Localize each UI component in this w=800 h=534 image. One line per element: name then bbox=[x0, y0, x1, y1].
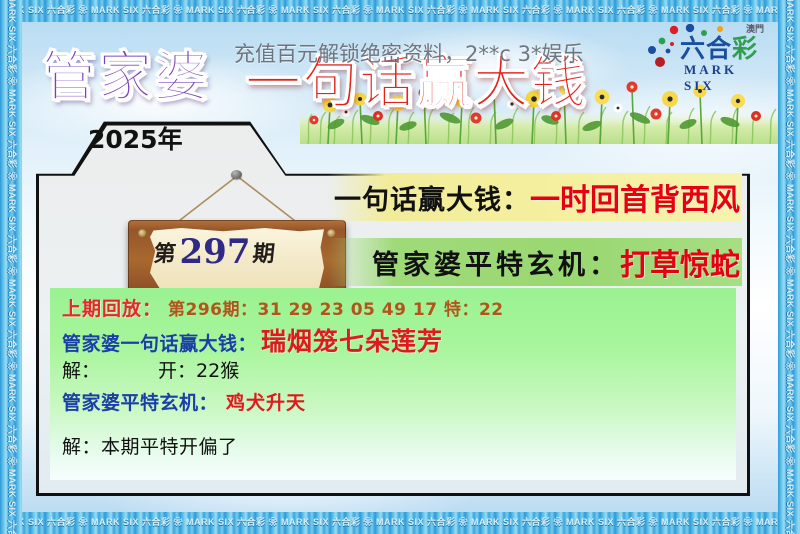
logo-char-3: 彩 bbox=[732, 34, 758, 63]
poster-root: 管家婆 一句话赢大钱 充值百元解锁绝密资料，2**c 3*娱乐 澳門 六合彩 M… bbox=[0, 0, 800, 534]
result-row-pingte-explain: 解：本期平特开偏了 bbox=[62, 432, 724, 464]
border-right-text: MARK SIX 六合彩 ❀ MARK SIX 六合彩 ❀ MARK SIX 六… bbox=[785, 0, 794, 534]
replay-label: 上期回放： bbox=[62, 294, 162, 321]
phrase-value: 瑞烟笼七朵莲芳 bbox=[261, 322, 443, 358]
border-right: MARK SIX 六合彩 ❀ MARK SIX 六合彩 ❀ MARK SIX 六… bbox=[778, 0, 800, 534]
headline-bar-pingte: 管家婆平特玄机： 打草惊蛇 bbox=[328, 238, 742, 286]
headline-bar-phrase: 一句话赢大钱： 一时回首背西风 bbox=[328, 173, 742, 221]
title-slogan: 一句话赢大钱 bbox=[245, 38, 587, 119]
logo-english-name: MARK SIX bbox=[684, 62, 766, 94]
results-box: 上期回放： 第296期：31 29 23 05 49 17 特：22 管家婆一句… bbox=[50, 288, 736, 480]
phrase-label: 管家婆一句话赢大钱： bbox=[62, 329, 257, 356]
replay-value: 第296期：31 29 23 05 49 17 特：22 bbox=[168, 295, 504, 320]
border-left: MARK SIX 六合彩 ❀ MARK SIX 六合彩 ❀ MARK SIX 六… bbox=[0, 0, 22, 534]
headline-value-0: 一时回首背西风 bbox=[530, 175, 740, 219]
border-bottom-text: MARK SIX 六合彩 ❀ MARK SIX 六合彩 ❀ MARK SIX 六… bbox=[0, 518, 800, 527]
explain-label: 解： bbox=[62, 356, 100, 383]
border-top-text: MARK SIX 六合彩 ❀ MARK SIX 六合彩 ❀ MARK SIX 六… bbox=[0, 6, 800, 15]
main-title: 管家婆 一句话赢大钱 bbox=[30, 26, 670, 108]
year-label: 2025年 bbox=[88, 120, 183, 156]
issue-number: 297 bbox=[177, 232, 254, 272]
content-panel: 2025年 第297期 一句话赢大钱： 一时回首背西风 管家婆平特玄机： 打草惊… bbox=[36, 110, 750, 496]
issue-prefix: 第 bbox=[153, 236, 178, 268]
logo-char-2: 合 bbox=[706, 34, 732, 63]
logo-chinese-name: 六合彩 bbox=[680, 36, 758, 61]
border-bottom: MARK SIX 六合彩 ❀ MARK SIX 六合彩 ❀ MARK SIX 六… bbox=[0, 512, 800, 534]
issue-suffix: 期 bbox=[252, 236, 277, 268]
border-left-text: MARK SIX 六合彩 ❀ MARK SIX 六合彩 ❀ MARK SIX 六… bbox=[7, 0, 16, 534]
result-row-pingte: 管家婆平特玄机： 鸡犬升天 bbox=[62, 388, 724, 420]
headline-label-0: 一句话赢大钱： bbox=[334, 178, 530, 217]
explain-value: 开：22猴 bbox=[158, 356, 239, 383]
pingte-label: 管家婆平特玄机： bbox=[62, 388, 218, 415]
pingte-explain: 解：本期平特开偏了 bbox=[62, 432, 238, 459]
headline-value-1: 打草惊蛇 bbox=[620, 240, 740, 284]
pingte-value: 鸡犬升天 bbox=[226, 388, 306, 415]
logo-char-1: 六 bbox=[680, 34, 706, 63]
result-row-explain: 解： 开：22猴 bbox=[62, 356, 724, 388]
title-brand: 管家婆 bbox=[42, 32, 210, 111]
nail-icon bbox=[231, 170, 242, 179]
headline-label-1: 管家婆平特玄机： bbox=[372, 243, 620, 282]
result-row-phrase: 管家婆一句话赢大钱： 瑞烟笼七朵莲芳 bbox=[62, 322, 724, 356]
mark-six-logo: 澳門 六合彩 MARK SIX bbox=[646, 24, 766, 82]
issue-number-text: 第297期 bbox=[128, 220, 302, 284]
result-row-replay: 上期回放： 第296期：31 29 23 05 49 17 特：22 bbox=[62, 294, 724, 322]
border-top: MARK SIX 六合彩 ❀ MARK SIX 六合彩 ❀ MARK SIX 六… bbox=[0, 0, 800, 22]
hanging-sign: 第297期 bbox=[128, 172, 358, 302]
